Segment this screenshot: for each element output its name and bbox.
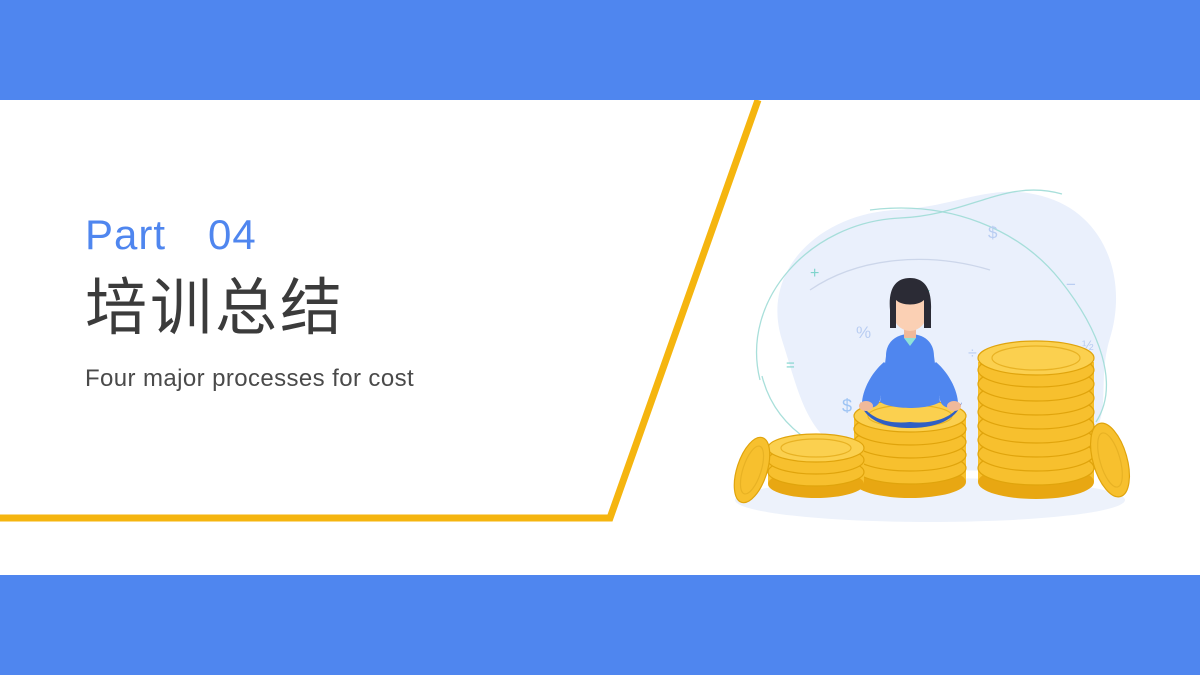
slide-root: Part 04 培训总结 Four major processes for co… [0, 0, 1200, 675]
top-blue-band [0, 0, 1200, 100]
title-text-block: Part 04 培训总结 Four major processes for co… [85, 212, 645, 393]
section-label: Part [85, 212, 166, 258]
page-title: 培训总结 [85, 272, 645, 343]
symbol-plus: + [810, 265, 819, 282]
left-small-stack [768, 434, 864, 498]
illustration-coins-figure: $ + × % − = ÷ ½ $ [690, 170, 1160, 550]
bottom-blue-band [0, 575, 1200, 675]
section-number: 04 [208, 212, 257, 258]
symbol-equals: = [786, 357, 795, 374]
page-subtitle: Four major processes for cost [85, 365, 645, 393]
symbol-dollar-left: $ [842, 396, 852, 416]
symbol-dollar-top: $ [988, 223, 998, 242]
symbol-divide: ÷ [968, 345, 977, 362]
right-tall-stack [978, 341, 1094, 499]
section-heading: Part 04 [85, 212, 645, 258]
symbol-percent: % [856, 323, 871, 342]
symbol-minus: − [1066, 275, 1076, 294]
